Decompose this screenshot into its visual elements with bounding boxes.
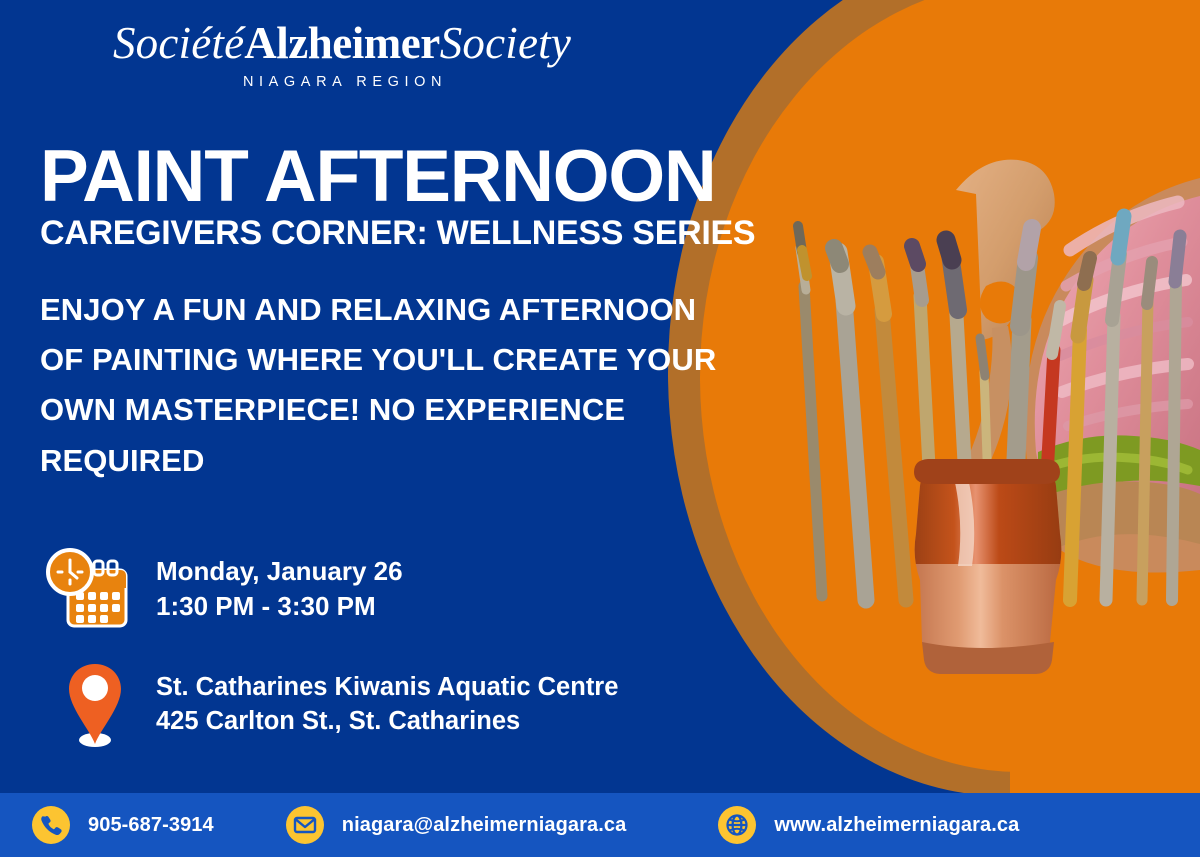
organization-logo: SociétéAlzheimerSociety NIAGARA REGION: [62, 20, 622, 90]
event-date-text: Monday, January 26 1:30 PM - 3:30 PM: [156, 554, 403, 623]
event-address-value: 425 Carlton St., St. Catharines: [156, 705, 618, 739]
clay-pot: [900, 459, 1080, 674]
logo-alzheimer-text: Alzheimer: [244, 18, 439, 68]
footer-email-item[interactable]: niagara@alzheimerniagara.ca: [286, 806, 627, 844]
logo-society-text: Society: [440, 18, 571, 68]
logo-region-text: NIAGARA REGION: [62, 74, 622, 90]
phone-icon: [32, 806, 70, 844]
event-time-value: 1:30 PM - 3:30 PM: [156, 589, 403, 624]
logo-wordmark: SociétéAlzheimerSociety: [62, 20, 622, 68]
logo-societe-text: Société: [113, 18, 244, 68]
map-pin-icon: [66, 660, 124, 750]
event-date-row: Monday, January 26 1:30 PM - 3:30 PM: [44, 548, 403, 630]
envelope-icon: [286, 806, 324, 844]
flyer-canvas: SociétéAlzheimerSociety NIAGARA REGION P…: [0, 0, 1200, 857]
page-subtitle: CAREGIVERS CORNER: WELLNESS SERIES: [40, 216, 755, 250]
page-title: PAINT AFTERNOON: [40, 140, 715, 213]
event-date-value: Monday, January 26: [156, 554, 403, 589]
footer-phone-item[interactable]: 905-687-3914: [32, 806, 214, 844]
contact-footer: 905-687-3914 niagara@alzheimerniagara.ca…: [0, 793, 1200, 857]
footer-website-label: www.alzheimerniagara.ca: [774, 814, 1019, 837]
event-description: ENJOY A FUN AND RELAXING AFTERNOON OF PA…: [40, 285, 720, 486]
paintbrushes-photo: [770, 0, 1200, 793]
footer-phone-label: 905-687-3914: [88, 814, 214, 837]
event-location-row: St. Catharines Kiwanis Aquatic Centre 42…: [66, 660, 618, 750]
footer-email-label: niagara@alzheimerniagara.ca: [342, 814, 627, 837]
event-location-text: St. Catharines Kiwanis Aquatic Centre 42…: [156, 671, 618, 739]
globe-icon: [718, 806, 756, 844]
calendar-clock-icon: [44, 548, 130, 630]
event-venue-value: St. Catharines Kiwanis Aquatic Centre: [156, 671, 618, 705]
footer-website-item[interactable]: www.alzheimerniagara.ca: [718, 806, 1019, 844]
